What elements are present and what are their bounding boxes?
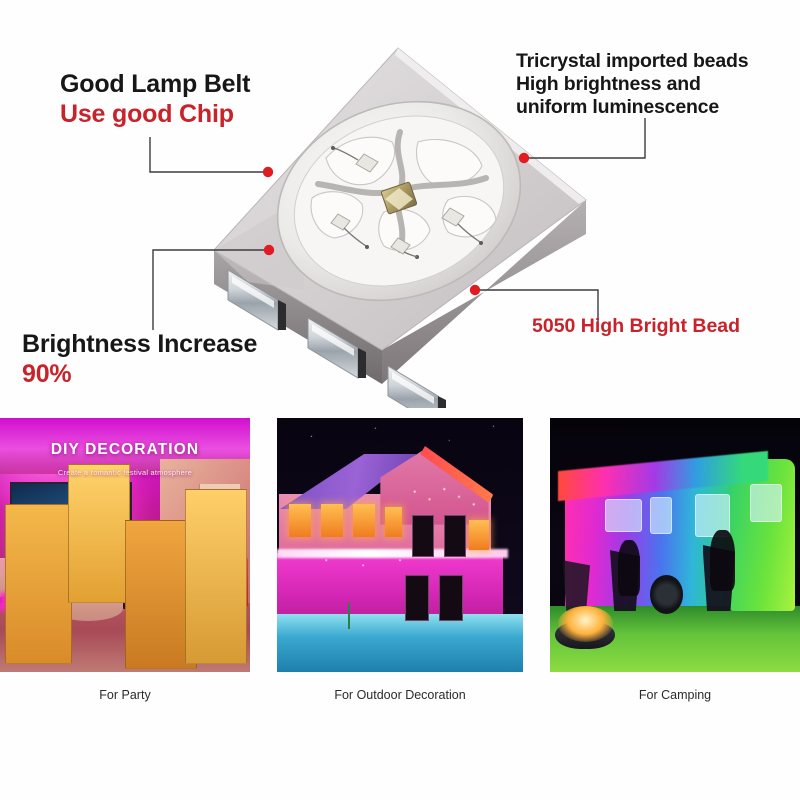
- scene-decorated-house: [277, 418, 523, 672]
- callout-line: High brightness and: [516, 73, 748, 96]
- caption-party: For Party: [0, 688, 250, 702]
- callout-brightness-increase: Brightness Increase 90%: [22, 330, 257, 389]
- callout-tricrystal-beads: Tricrystal imported beads High brightnes…: [516, 50, 748, 119]
- fire-pit-glow: [558, 606, 613, 642]
- callout-line: Tricrystal imported beads: [516, 50, 748, 73]
- photo-panel-party: DIY DECORATION Create a romantic festiva…: [0, 418, 250, 672]
- callout-good-lamp-belt: Good Lamp Belt Use good Chip: [60, 70, 250, 129]
- photo-panel-camping: [550, 418, 800, 672]
- callout-line: 90%: [22, 360, 257, 390]
- contact-pad: [388, 366, 446, 408]
- infographic-canvas: Good Lamp Belt Use good Chip Tricrystal …: [0, 0, 800, 800]
- callout-line: Use good Chip: [60, 100, 250, 130]
- photo-panel-outdoor: [277, 418, 523, 672]
- callout-line: 5050 High Bright Bead: [532, 315, 740, 338]
- panel-overlay-title: DIY DECORATION: [0, 441, 250, 459]
- callout-line: Good Lamp Belt: [60, 70, 250, 100]
- caption-camping: For Camping: [550, 688, 800, 702]
- callout-line: uniform luminescence: [516, 96, 748, 119]
- scene-rv-camping: [550, 418, 800, 672]
- callout-high-bright-bead: 5050 High Bright Bead: [532, 315, 740, 338]
- callout-line: Brightness Increase: [22, 330, 257, 360]
- caption-outdoor: For Outdoor Decoration: [277, 688, 523, 702]
- panel-overlay-subtitle: Create a romantic festival atmosphere: [0, 468, 250, 477]
